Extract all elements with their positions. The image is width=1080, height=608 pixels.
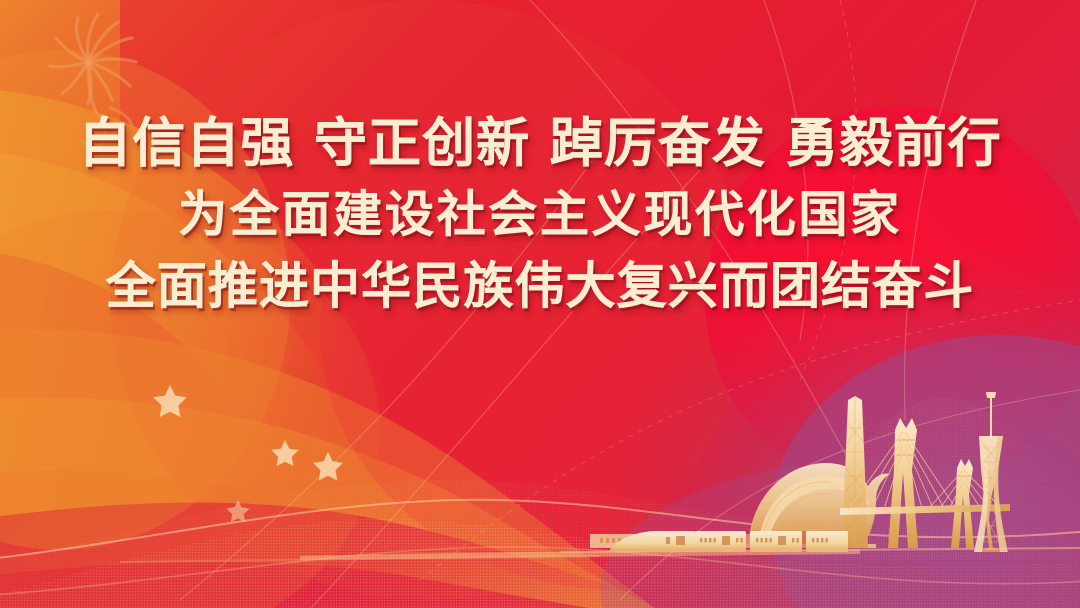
poster-canvas: 自信自强 守正创新 踔厉奋发 勇毅前行 为全面建设社会主义现代化国家 全面推进中… (0, 0, 1080, 608)
tone-overlay (0, 0, 1080, 608)
background-artwork (0, 0, 1080, 608)
